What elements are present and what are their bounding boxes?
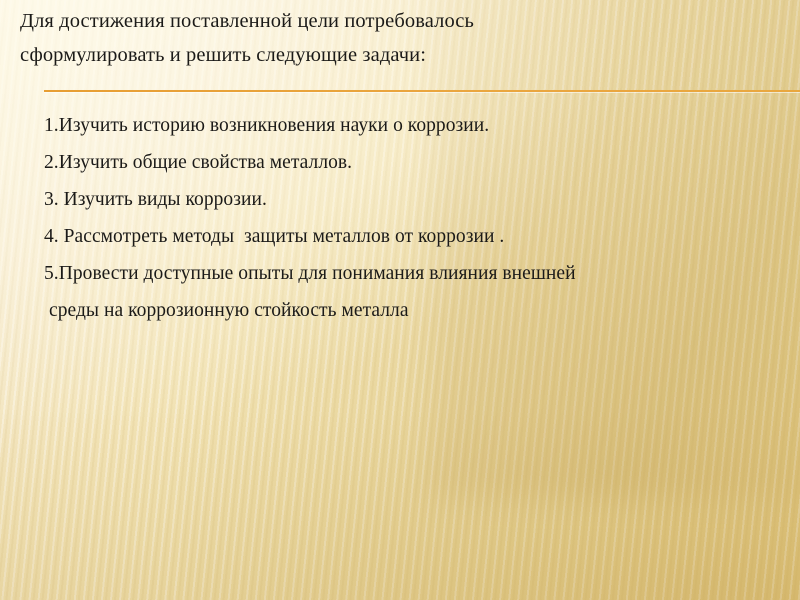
- list-item-continuation: среды на коррозионную стойкость металла: [44, 292, 796, 329]
- slide-title: Для достижения поставленной цели потребо…: [20, 4, 760, 72]
- list-item: 4. Рассмотреть методы защиты металлов от…: [44, 218, 796, 255]
- list-item: 1.Изучить историю возникновения науки о …: [44, 107, 796, 144]
- title-line-2: сформулировать и решить следующие задачи…: [20, 38, 760, 72]
- list-item: 2.Изучить общие свойства металлов.: [44, 144, 796, 181]
- list-item: 3. Изучить виды коррозии.: [44, 181, 796, 218]
- title-line-1: Для достижения поставленной цели потребо…: [20, 4, 760, 38]
- title-divider-rule: [44, 90, 800, 92]
- task-list: 1.Изучить историю возникновения науки о …: [44, 107, 796, 329]
- list-item-text: 5.Провести доступные опыты для понимания…: [44, 263, 576, 284]
- list-item: 5.Провести доступные опыты для понимания…: [44, 255, 796, 329]
- slide-content: Для достижения поставленной цели потребо…: [0, 0, 800, 600]
- slide-canvas: Для достижения поставленной цели потребо…: [0, 0, 800, 600]
